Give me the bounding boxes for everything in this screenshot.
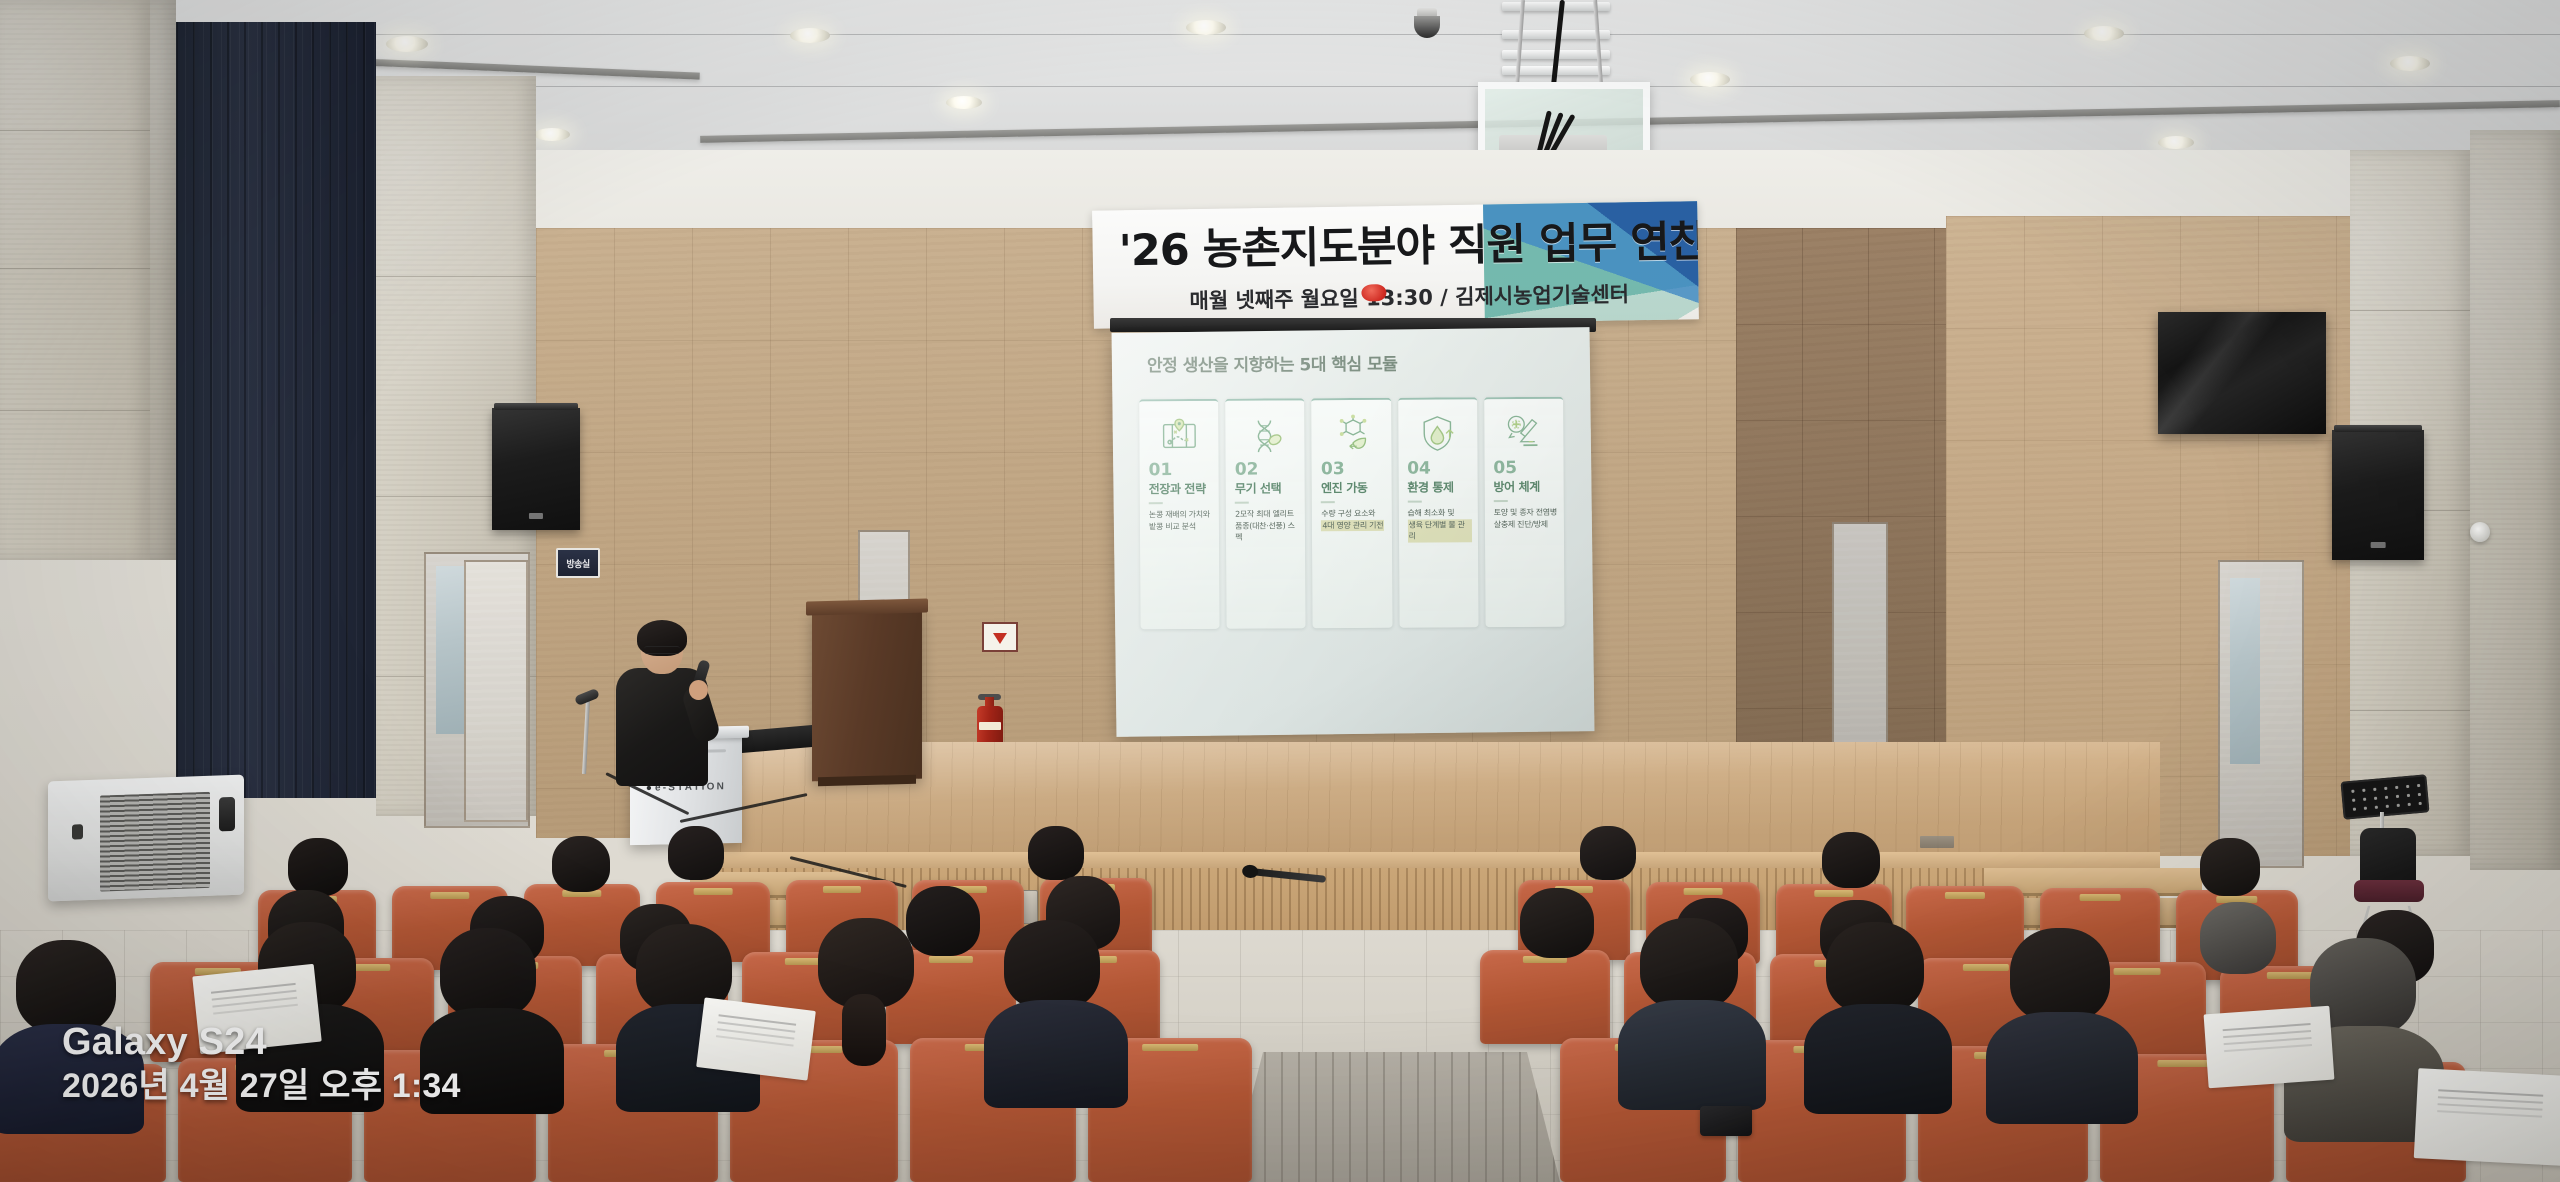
- audience-person: [1004, 920, 1104, 1018]
- slide-content: 안정 생산을 지향하는 5대 핵심 모듈 01 전장과 전략: [1131, 349, 1573, 708]
- exit-arrow-icon: [993, 633, 1007, 644]
- slide-card-heading: 방어 체계: [1490, 481, 1539, 494]
- camera-watermark: Galaxy S24 2026년 4월 27일 오후 1:34: [62, 1020, 461, 1108]
- aircon-control-panel[interactable]: [219, 797, 235, 832]
- ceiling-downlight: [2084, 26, 2124, 41]
- slide-card-line2: 생육 단계별 물 관리: [1408, 519, 1472, 543]
- ceiling-downlight: [1690, 72, 1730, 87]
- dna-bean-icon: [1244, 413, 1286, 455]
- microscope-germ-icon: [1503, 412, 1545, 454]
- wall-tv-monitor: [2158, 312, 2326, 434]
- cctv-camera-icon: [1414, 8, 1440, 38]
- audience-person: [552, 836, 614, 896]
- slide-card-line1: 수량 구성 요소와: [1321, 508, 1384, 520]
- slide-card-line1: 2모작 최대 엘리트: [1235, 509, 1299, 521]
- ceiling-downlight: [2390, 56, 2430, 71]
- slide-card-heading: 무기 선택: [1232, 482, 1281, 495]
- door-right[interactable]: [2218, 560, 2304, 868]
- slide-card-number: 03: [1318, 461, 1345, 478]
- map-route-icon: [1158, 414, 1200, 456]
- handout-paper: [2204, 1006, 2335, 1089]
- slide-card-number: 01: [1146, 462, 1173, 479]
- slide-card-number: 04: [1404, 461, 1431, 478]
- door-sign-broadcast-room: 방송실: [556, 548, 600, 578]
- emergency-exit-sign: [982, 622, 1018, 652]
- center-aisle-mat: [1230, 1052, 1560, 1182]
- slide-card-body: 수량 구성 요소와 4대 영양 관리 기전: [1318, 508, 1384, 532]
- ceiling-downlight: [790, 28, 830, 43]
- stage-floor-vent: [1920, 836, 1954, 848]
- audience-person: [2200, 838, 2264, 900]
- fire-extinguisher: [976, 694, 1004, 750]
- audience-person: [668, 826, 728, 884]
- slide-card-rule: [1149, 502, 1163, 504]
- slide-card-heading: 환경 통제: [1404, 481, 1453, 494]
- audience-person: [1822, 832, 1884, 892]
- stage-curtain-left: [176, 22, 376, 798]
- stone-pillar-left-edge: [150, 0, 176, 560]
- shield-waterdrop-icon: [1416, 412, 1458, 454]
- loudspeaker-left: [492, 408, 580, 530]
- slide-card: 01 전장과 전략 논콩 재배의 가치와 밭콩 비교 분석: [1139, 399, 1220, 629]
- air-conditioner-unit: [48, 775, 244, 902]
- audience-person: [2010, 928, 2114, 1030]
- ceiling-downlight: [946, 96, 982, 109]
- slide-card-line2: 살충제 진단/방제: [1494, 519, 1557, 531]
- slide-card-line1: 토양 및 종자 전염병: [1494, 507, 1557, 519]
- audience-person: [1520, 888, 1598, 964]
- slide-card-line1: 논콩 재배의 가치와: [1149, 509, 1210, 521]
- slide-card-rule: [1407, 501, 1421, 503]
- wall-light-fixture: [2470, 522, 2490, 542]
- slide-card-rule: [1321, 501, 1335, 503]
- slide-card-row: 01 전장과 전략 논콩 재배의 가치와 밭콩 비교 분석: [1139, 397, 1564, 630]
- stone-pillar-far-right: [2470, 130, 2560, 870]
- audience-person: [1826, 922, 1928, 1022]
- molecule-leaf-icon: [1330, 413, 1372, 455]
- stone-pillar-left: [0, 0, 150, 560]
- handout-paper: [2414, 1068, 2560, 1166]
- watermark-datetime: 2026년 4월 27일 오후 1:34: [62, 1064, 461, 1108]
- slide-card-body: 2모작 최대 엘리트 품종(대찬·선풍) 스펙: [1232, 509, 1299, 544]
- slide-card: 05 방어 체계 토양 및 종자 전염병 살충제 진단/방제: [1484, 397, 1565, 627]
- slide-title: 안정 생산을 지향하는 5대 핵심 모듈: [1147, 350, 1398, 377]
- slide-card-rule: [1235, 502, 1249, 504]
- watermark-device: Galaxy S24: [62, 1020, 461, 1064]
- slide-card: 04 환경 통제 습해 최소화 및 생육 단계별 물 관리: [1398, 397, 1479, 627]
- slide-card-heading: 전장과 전략: [1146, 483, 1206, 497]
- glasses-icon: [644, 646, 680, 654]
- ceiling-downlight: [1186, 20, 1226, 35]
- wooden-lectern: [812, 607, 922, 782]
- gimje-city-logo-icon: [1361, 284, 1386, 301]
- presenter-person: [608, 624, 716, 784]
- audience-seat: [1480, 950, 1610, 1044]
- audience-person-ponytail: [818, 918, 918, 1016]
- loudspeaker-right: [2332, 430, 2424, 560]
- slide-card-line2: 품종(대찬·선풍) 스펙: [1235, 520, 1299, 544]
- banner-title: '26 농촌지도분야 직원 업무 연찬회: [1118, 219, 1602, 277]
- slide-card: 03 엔진 가동 수량 구성 요소와 4대 영양 관리 기전: [1312, 398, 1393, 628]
- door-left-inner[interactable]: [464, 560, 528, 822]
- audience-person: [1580, 826, 1640, 884]
- slide-card: 02 무기 선택 2모작 최대 엘리트 품종(대찬·선풍) 스펙: [1225, 398, 1306, 628]
- audience-person: [2200, 902, 2280, 980]
- aircon-knob[interactable]: [72, 824, 83, 839]
- ceiling-downlight: [386, 36, 428, 52]
- audience-person: [440, 928, 540, 1026]
- slide-card-line1: 습해 최소화 및: [1407, 507, 1471, 519]
- slide-card-number: 05: [1490, 460, 1517, 477]
- audience-person: [1640, 918, 1742, 1018]
- slide-card-body: 습해 최소화 및 생육 단계별 물 관리: [1404, 507, 1471, 542]
- ceiling-downlight: [2158, 136, 2194, 149]
- slide-card-body: 토양 및 종자 전염병 살충제 진단/방제: [1491, 507, 1557, 531]
- event-banner: '26 농촌지도분야 직원 업무 연찬회 매월 넷째주 월요일 13:30 / …: [1092, 201, 1699, 328]
- slide-card-heading: 엔진 가동: [1318, 482, 1367, 495]
- projection-screen: 안정 생산을 지향하는 5대 핵심 모듈 01 전장과 전략: [1112, 327, 1595, 737]
- conference-hall-photo: 방송실 '26 농촌지도분야 직원 업무 연찬회 매월 넷째주 월요일 13:3…: [0, 0, 2560, 1182]
- ceiling-downlight: [534, 128, 570, 141]
- slide-card-body: 논콩 재배의 가치와 밭콩 비교 분석: [1146, 509, 1210, 533]
- slide-card-rule: [1494, 500, 1508, 502]
- smartphone[interactable]: [1700, 1106, 1752, 1136]
- slide-card-line2: 4대 영양 관리 기전: [1321, 520, 1384, 532]
- handout-paper: [696, 997, 816, 1080]
- slide-card-line2: 밭콩 비교 분석: [1149, 521, 1210, 533]
- slide-card-number: 02: [1232, 462, 1259, 479]
- door-sign-label: 방송실: [566, 557, 589, 570]
